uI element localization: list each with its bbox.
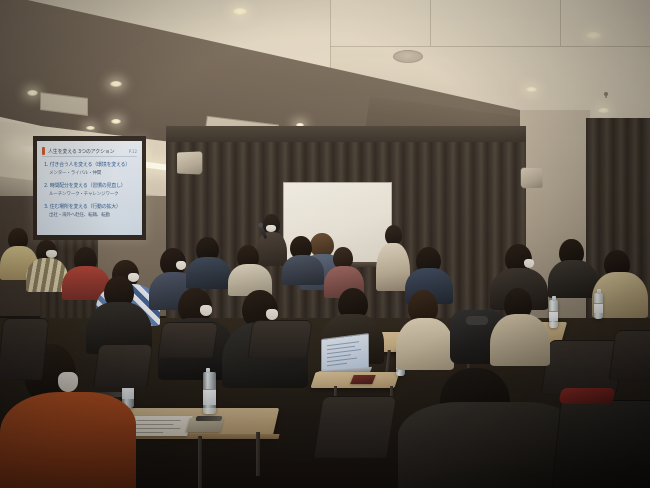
slide-bullet: 3. 住む場所を変える（行動の拡大） 出社・海外へ赴任、転職、転勤 xyxy=(44,203,137,218)
ceiling-seam xyxy=(330,46,650,47)
slide-bullet-heading: 3. 住む場所を変える（行動の拡大） xyxy=(44,203,137,210)
slide-bullet-heading: 1. 付き合う人を変える（環境を変える） xyxy=(44,161,137,168)
attendee-body xyxy=(282,255,324,285)
downlight-icon xyxy=(111,119,121,124)
wall-speaker-icon xyxy=(177,151,202,174)
paper-text-line xyxy=(134,428,180,429)
attendee-body xyxy=(396,318,454,370)
coat-on-chair xyxy=(559,388,616,404)
downlight-icon xyxy=(526,87,537,92)
slide-title-row: 人生を変える 3つのアクション P.12 xyxy=(42,146,137,157)
face-mask-icon xyxy=(58,372,78,392)
face-mask-icon xyxy=(200,305,212,316)
face-mask-icon xyxy=(266,225,276,232)
table-leg xyxy=(256,432,260,476)
wall-speaker-icon xyxy=(521,168,543,189)
ceiling-seam xyxy=(560,0,561,46)
presenter-body xyxy=(256,232,287,266)
downlight-icon xyxy=(27,90,38,96)
slide-accent-bar xyxy=(42,147,45,155)
bottle-label xyxy=(203,389,216,405)
paper-text-line xyxy=(135,424,173,425)
chair xyxy=(0,318,49,380)
water-bottle-foreground xyxy=(203,372,216,414)
sprinkler-icon xyxy=(604,92,608,96)
curtain-valance xyxy=(166,126,526,142)
staff-head xyxy=(385,225,402,245)
downlight-icon xyxy=(86,126,95,130)
backpack-strap xyxy=(466,316,488,325)
paper-text-line xyxy=(136,420,180,421)
attendee-body xyxy=(186,257,231,289)
slide-bullet-heading: 2. 時間配分を変える（習慣の見直し） xyxy=(44,182,137,189)
slide-title: 人生を変える 3つのアクション xyxy=(48,148,114,155)
water-bottle xyxy=(549,300,558,328)
attendee-body-hoodie xyxy=(0,392,136,488)
bottle-label xyxy=(594,303,603,313)
laptop-text-line xyxy=(327,363,347,366)
chair xyxy=(157,322,218,358)
slide-bullet: 2. 時間配分を変える（習慣の見直し） ルーチンワーク・チャレンジワーク xyxy=(44,182,137,197)
bottle-label xyxy=(549,311,558,321)
downlight-icon xyxy=(598,108,609,113)
ac-vent-icon xyxy=(393,50,423,63)
handout xyxy=(350,375,376,384)
chair xyxy=(608,330,650,380)
chair xyxy=(313,396,397,458)
slide-bullet: 1. 付き合う人を変える（環境を変える） メンター・ライバル・仲間 xyxy=(44,161,137,176)
table-leg xyxy=(198,436,202,488)
slide-bullet-sub: 出社・海外へ赴任、転職、転勤 xyxy=(44,212,137,218)
attendee-body xyxy=(548,260,598,298)
projection-screen: 人生を変える 3つのアクション P.12 1. 付き合う人を変える（環境を変える… xyxy=(33,136,146,240)
water-bottle xyxy=(594,293,603,319)
face-mask-icon xyxy=(46,250,57,258)
laptop-text-line xyxy=(327,358,357,363)
chair-foreground xyxy=(551,400,650,488)
downlight-icon xyxy=(110,81,122,87)
pen-icon xyxy=(195,416,222,421)
paper-text-line xyxy=(133,432,163,433)
projected-slide: 人生を変える 3つのアクション P.12 1. 付き合う人を変える（環境を変える… xyxy=(37,141,142,235)
attendee-body xyxy=(490,314,550,366)
ceiling-seam xyxy=(430,0,431,46)
chair xyxy=(93,344,153,388)
handout-paper xyxy=(127,416,193,436)
slide-bullet-sub: ルーチンワーク・チャレンジワーク xyxy=(44,191,137,197)
downlight-icon xyxy=(233,8,247,15)
face-mask-icon xyxy=(266,309,278,320)
laptop-text-line xyxy=(327,349,361,354)
attendee-body-foreground xyxy=(398,402,578,488)
face-mask-icon xyxy=(176,261,186,270)
face-mask-icon xyxy=(524,259,534,268)
slide-bullet-sub: メンター・ライバル・仲間 xyxy=(44,170,137,176)
slide-bullet-list: 1. 付き合う人を変える（環境を変える） メンター・ライバル・仲間 2. 時間配… xyxy=(44,161,137,218)
seminar-room-photo: 人生を変える 3つのアクション P.12 1. 付き合う人を変える（環境を変える… xyxy=(0,0,650,488)
slide-page-number: P.12 xyxy=(129,149,137,154)
chair xyxy=(247,320,312,358)
downlight-icon xyxy=(586,32,601,39)
